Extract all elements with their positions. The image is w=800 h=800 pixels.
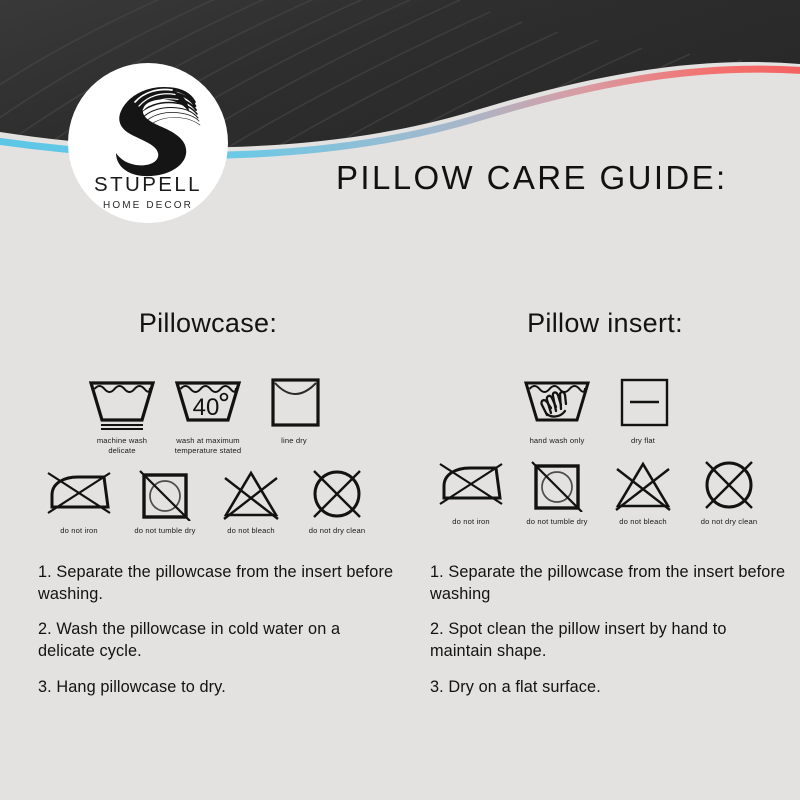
icon-cell-do-not-iron: do not iron bbox=[428, 456, 514, 527]
pillow-insert-instructions: 1. Separate the pillowcase from the inse… bbox=[430, 562, 790, 698]
do-not-iron-icon bbox=[40, 465, 118, 521]
pillowcase-instructions: 1. Separate the pillowcase from the inse… bbox=[38, 562, 398, 698]
line-dry-icon bbox=[257, 375, 331, 431]
instruction-item: 2. Spot clean the pillow insert by hand … bbox=[430, 619, 790, 662]
icon-label: do not dry clean bbox=[701, 517, 757, 527]
do-not-tumble-dry-icon bbox=[518, 456, 596, 512]
pillow-insert-icon-row-1: hand wash only dry flat bbox=[410, 375, 790, 446]
brand-logo-badge: STUPELL HOME DECOR bbox=[68, 63, 228, 223]
stupell-swoosh-s-logo-icon bbox=[94, 75, 202, 179]
machine-wash-delicate-icon bbox=[85, 375, 159, 431]
icon-cell-do-not-dry-clean: do not dry clean bbox=[294, 465, 380, 536]
pillowcase-icon-row-2: do not iron do not tumble dry do not ble bbox=[18, 465, 398, 536]
hand-wash-only-icon bbox=[520, 375, 594, 431]
icon-label: do not dry clean bbox=[309, 526, 365, 536]
instruction-item: 2. Wash the pillowcase in cold water on … bbox=[38, 619, 398, 662]
svg-text:40: 40 bbox=[193, 394, 220, 421]
icon-cell-do-not-bleach: do not bleach bbox=[600, 456, 686, 527]
brand-tagline: HOME DECOR bbox=[68, 201, 228, 211]
icon-label: do not bleach bbox=[227, 526, 275, 536]
icon-label: hand wash only bbox=[530, 436, 585, 446]
icon-cell-line-dry: line dry bbox=[251, 375, 337, 446]
icon-label: do not iron bbox=[452, 517, 490, 527]
icon-label: wash at maximumtemperature stated bbox=[175, 436, 241, 455]
do-not-iron-icon bbox=[432, 456, 510, 512]
icon-cell-dry-flat: dry flat bbox=[600, 375, 686, 446]
icon-label: machine washdelicate bbox=[97, 436, 147, 455]
pillow-insert-section: Pillow insert: hand wash only bbox=[410, 310, 790, 526]
dry-flat-icon bbox=[606, 375, 680, 431]
icon-cell-do-not-bleach: do not bleach bbox=[208, 465, 294, 536]
icon-cell-do-not-tumble-dry: do not tumble dry bbox=[514, 456, 600, 527]
icon-cell-hand-wash-only: hand wash only bbox=[514, 375, 600, 446]
icon-cell-do-not-iron: do not iron bbox=[36, 465, 122, 536]
instruction-item: 3. Dry on a flat surface. bbox=[430, 677, 790, 699]
do-not-bleach-icon bbox=[212, 465, 290, 521]
icon-label: dry flat bbox=[631, 436, 655, 446]
icon-label: do not tumble dry bbox=[134, 526, 195, 536]
do-not-tumble-dry-icon bbox=[126, 465, 204, 521]
icon-cell-wash-max-temperature: 40 wash at maximumtemperature stated bbox=[165, 375, 251, 455]
pillowcase-heading: Pillowcase: bbox=[18, 310, 398, 337]
wash-max-temperature-40-icon: 40 bbox=[171, 375, 245, 431]
icon-cell-do-not-dry-clean: do not dry clean bbox=[686, 456, 772, 527]
do-not-dry-clean-icon bbox=[690, 456, 768, 512]
do-not-dry-clean-icon bbox=[298, 465, 376, 521]
instruction-item: 1. Separate the pillowcase from the inse… bbox=[430, 562, 790, 605]
page-title: PILLOW CARE GUIDE: bbox=[336, 159, 728, 197]
icon-label: line dry bbox=[281, 436, 307, 446]
pillowcase-section: Pillowcase: machine washdelicate 40 bbox=[18, 310, 398, 536]
icon-cell-do-not-tumble-dry: do not tumble dry bbox=[122, 465, 208, 536]
pillow-insert-icon-row-2: do not iron do not tumble dry do not ble… bbox=[410, 456, 790, 527]
pillowcase-icon-row-1: machine washdelicate 40 wash at maximumt… bbox=[18, 375, 398, 455]
do-not-bleach-icon bbox=[604, 456, 682, 512]
icon-label: do not bleach bbox=[619, 517, 667, 527]
icon-label: do not iron bbox=[60, 526, 98, 536]
pillow-insert-heading: Pillow insert: bbox=[410, 310, 790, 337]
instruction-item: 3. Hang pillowcase to dry. bbox=[38, 677, 398, 699]
icon-label: do not tumble dry bbox=[526, 517, 587, 527]
pillow-care-guide-page: STUPELL HOME DECOR PILLOW CARE GUIDE: Pi… bbox=[0, 0, 800, 800]
icon-cell-machine-wash-delicate: machine washdelicate bbox=[79, 375, 165, 455]
brand-name: STUPELL bbox=[68, 175, 228, 196]
instruction-item: 1. Separate the pillowcase from the inse… bbox=[38, 562, 398, 605]
